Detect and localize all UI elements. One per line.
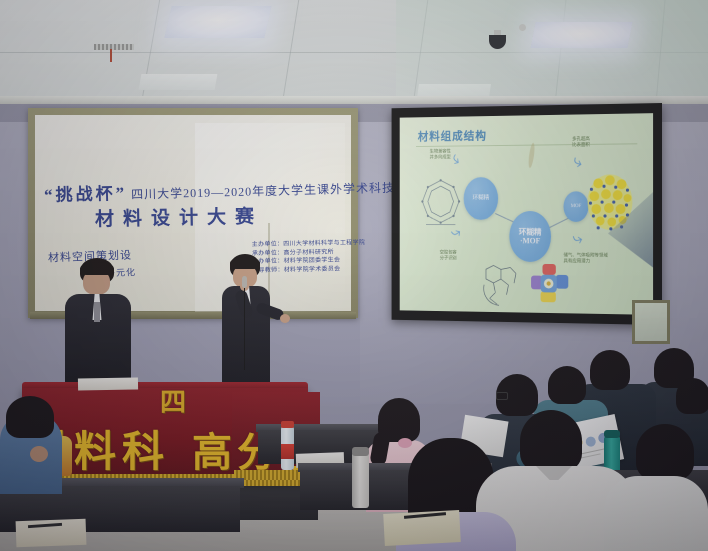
presenter-left: [62, 258, 134, 388]
water-bottle-label: [281, 444, 294, 459]
podium-papers: [78, 377, 138, 390]
audience-member-head: [590, 350, 630, 390]
screen-glare: [400, 113, 653, 315]
ceiling-sensor-icon: [519, 24, 526, 31]
sprinkler-icon: [110, 49, 112, 62]
classroom-presentation-photo: “挑战杯” 四川大学2019—2020年度大学生课外学术科技作品 材料设计大赛 …: [0, 0, 708, 551]
air-diffuser: [94, 44, 134, 50]
audience-front-head-center: [520, 410, 582, 472]
ceiling-light-panel-right: [530, 22, 632, 48]
slide-surface: 材料组成结构 环糊精 环糊精 ·MO: [400, 113, 653, 315]
teal-thermos-cap: [604, 430, 620, 438]
wall-picture-surface: [635, 303, 667, 341]
audience-foreground-left-head: [6, 396, 54, 438]
ceiling-glass-reflection: [396, 0, 708, 104]
audience-child-head: [378, 398, 420, 442]
audience-foreground-left-hand: [30, 446, 48, 462]
ceiling: [0, 0, 708, 104]
hair-scrunchie: [398, 438, 412, 448]
ceiling-light-panel-left: [164, 6, 271, 38]
silver-thermos: [352, 452, 369, 508]
audience-member-head: [676, 378, 708, 414]
water-bottle-cap: [281, 421, 294, 428]
eyeglasses-icon: [496, 392, 508, 400]
presenter-right-fringe: [230, 257, 260, 269]
whiteboard-main-title: 材料设计大赛: [95, 202, 263, 232]
microphone-cord: [244, 288, 245, 370]
whiteboard-headline-quote: “挑战杯”: [44, 184, 127, 205]
presenter-left-tie: [94, 302, 100, 322]
audience-front-body-right: [604, 476, 708, 551]
projection-screen: 材料组成结构 环糊精 环糊精 ·MO: [392, 103, 662, 325]
presenter-left-fringe: [80, 262, 114, 275]
audience-member-head: [548, 366, 586, 404]
wall-picture-frame: [632, 300, 670, 344]
microphone-icon: [242, 276, 247, 288]
presenter-right-hand: [280, 314, 290, 323]
banner-emblem: 四: [160, 382, 186, 419]
audience-front-head-right: [636, 424, 694, 480]
silver-thermos-cap: [352, 447, 369, 456]
